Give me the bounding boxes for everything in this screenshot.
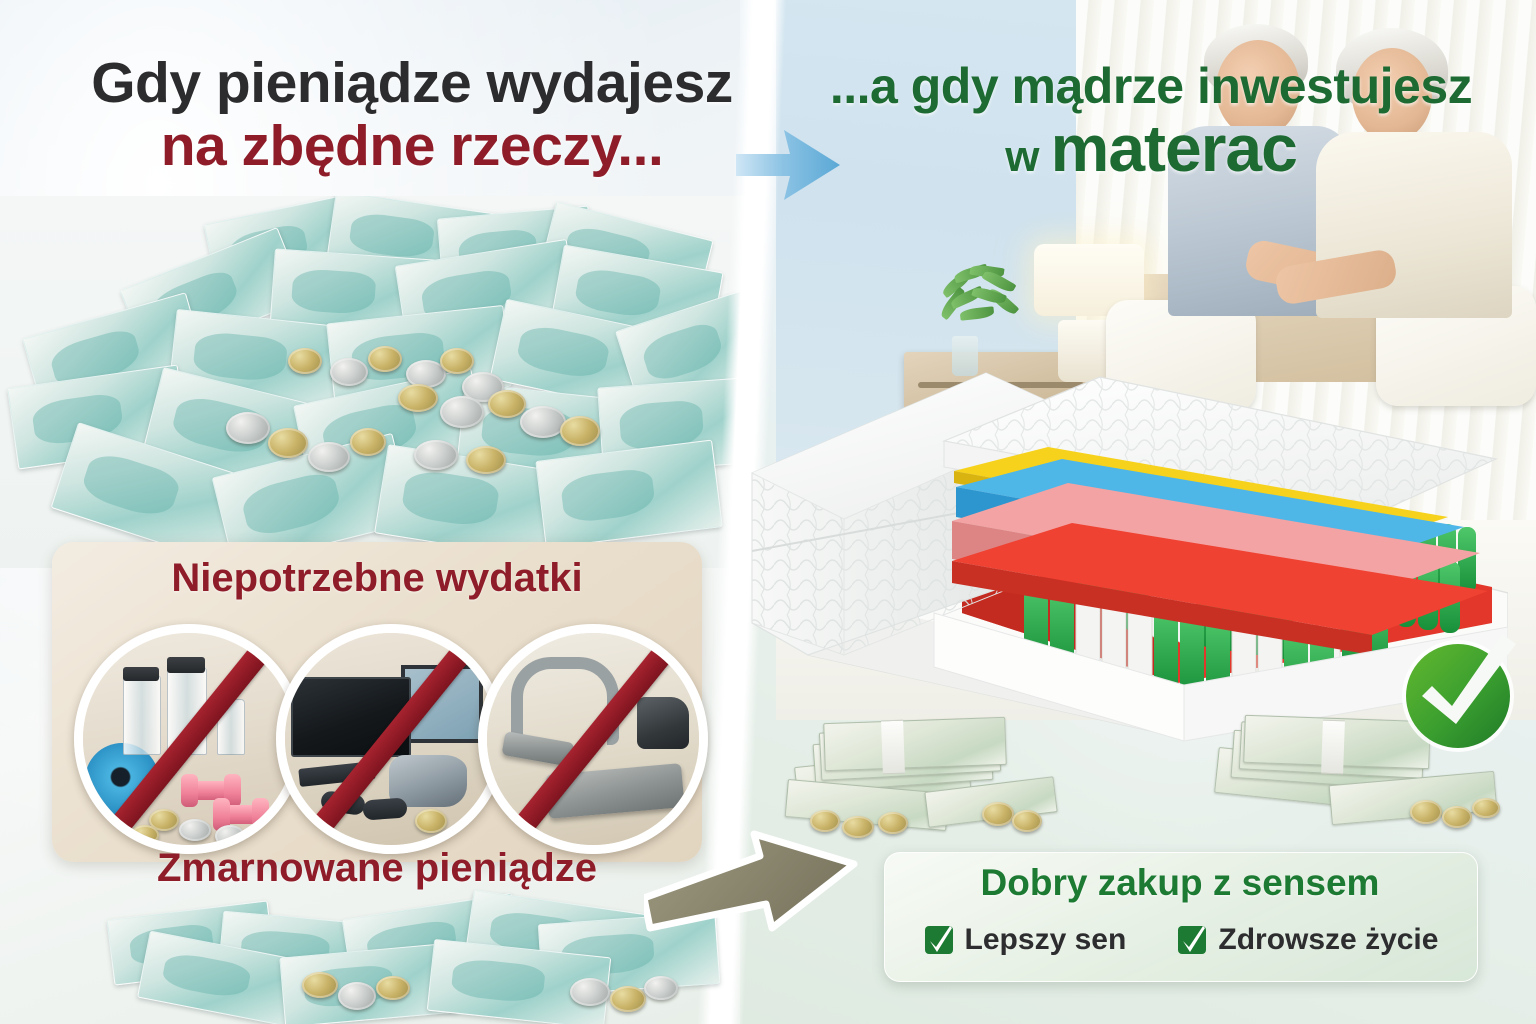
headline-right: ...a gdy mądrze inwestujesz w materac [786,62,1516,181]
blender-lid-1 [123,667,159,681]
pocket-spring-mattress-cutaway [748,355,1508,755]
blue-transition-arrow [736,126,840,204]
headline-left: Gdy pieniądze wydajesz na zbędne rzeczy.… [62,56,762,175]
circle-photo-kitchen-fitness [74,624,304,854]
headline-right-prefix: w [1005,132,1050,181]
headline-left-line1: Gdy pieniądze wydajesz [62,56,762,112]
wasted-money-bottom [70,884,730,1024]
wasted-money-subtitle: Zmarnowane pieniądze [52,846,702,891]
benefit-item-better-sleep: Lepszy sen [924,923,1127,957]
benefit-item-healthier-life: Zdrowsze życie [1177,923,1438,957]
unnecessary-spending-title: Niepotrzebne wydatki [52,556,702,601]
good-purchase-title: Dobry zakup z sensem [884,862,1476,904]
benefit-label: Lepszy sen [965,923,1127,957]
circle-photo-electronics [276,624,506,854]
coin [415,809,447,833]
infographic-poster: Niepotrzebne wydatki [0,0,1536,1024]
benefits-list: Lepszy sen Zdrowsze życie [898,912,1464,968]
shoe-2 [362,797,407,820]
coin [179,819,211,841]
arrow-right-icon [736,130,840,200]
dumbbell-2 [219,805,263,824]
checkbox-checked-icon [1177,925,1207,955]
headline-right-line2: w materac [786,116,1516,181]
benefit-label: Zdrowsze życie [1218,923,1438,957]
blender-lid-2 [167,657,205,673]
arrow-right-icon [644,834,854,928]
dumbbell-1 [187,781,235,800]
olive-transition-arrow [644,806,860,940]
headline-left-line2: na zbędne rzeczy... [62,119,762,175]
coin [215,825,245,847]
checkbox-checked-icon [924,925,954,955]
headline-right-emphasis: materac [1051,111,1297,185]
wasted-money-pile [0,196,752,568]
headline-right-line1: ...a gdy mądrze inwestujesz [786,62,1516,111]
blender-jar-1 [123,675,161,755]
green-check-badge [1398,626,1530,758]
coin [131,825,159,845]
exercise-bike [637,697,689,749]
